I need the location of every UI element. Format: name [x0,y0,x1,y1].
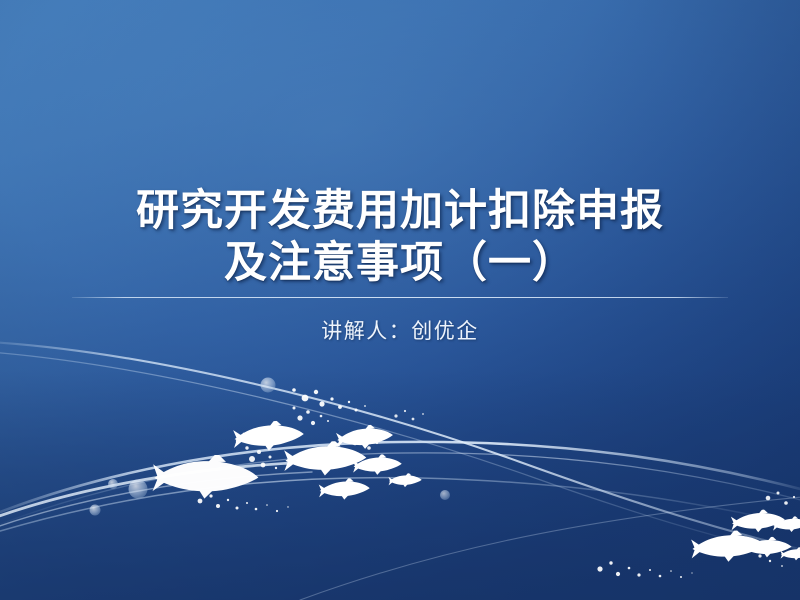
fish-school [153,417,800,563]
title-divider [72,297,728,298]
title-line-1: 研究开发费用加计扣除申报 [0,185,800,237]
slide-title: 研究开发费用加计扣除申报 及注意事项（一） [0,185,800,290]
title-slide: 研究开发费用加计扣除申报 及注意事项（一） 讲解人：创优企 [0,0,800,600]
title-line-2: 及注意事项（一） [0,237,800,289]
underwater-decoration-artwork [0,0,800,600]
presenter-subtitle: 讲解人：创优企 [0,315,800,345]
